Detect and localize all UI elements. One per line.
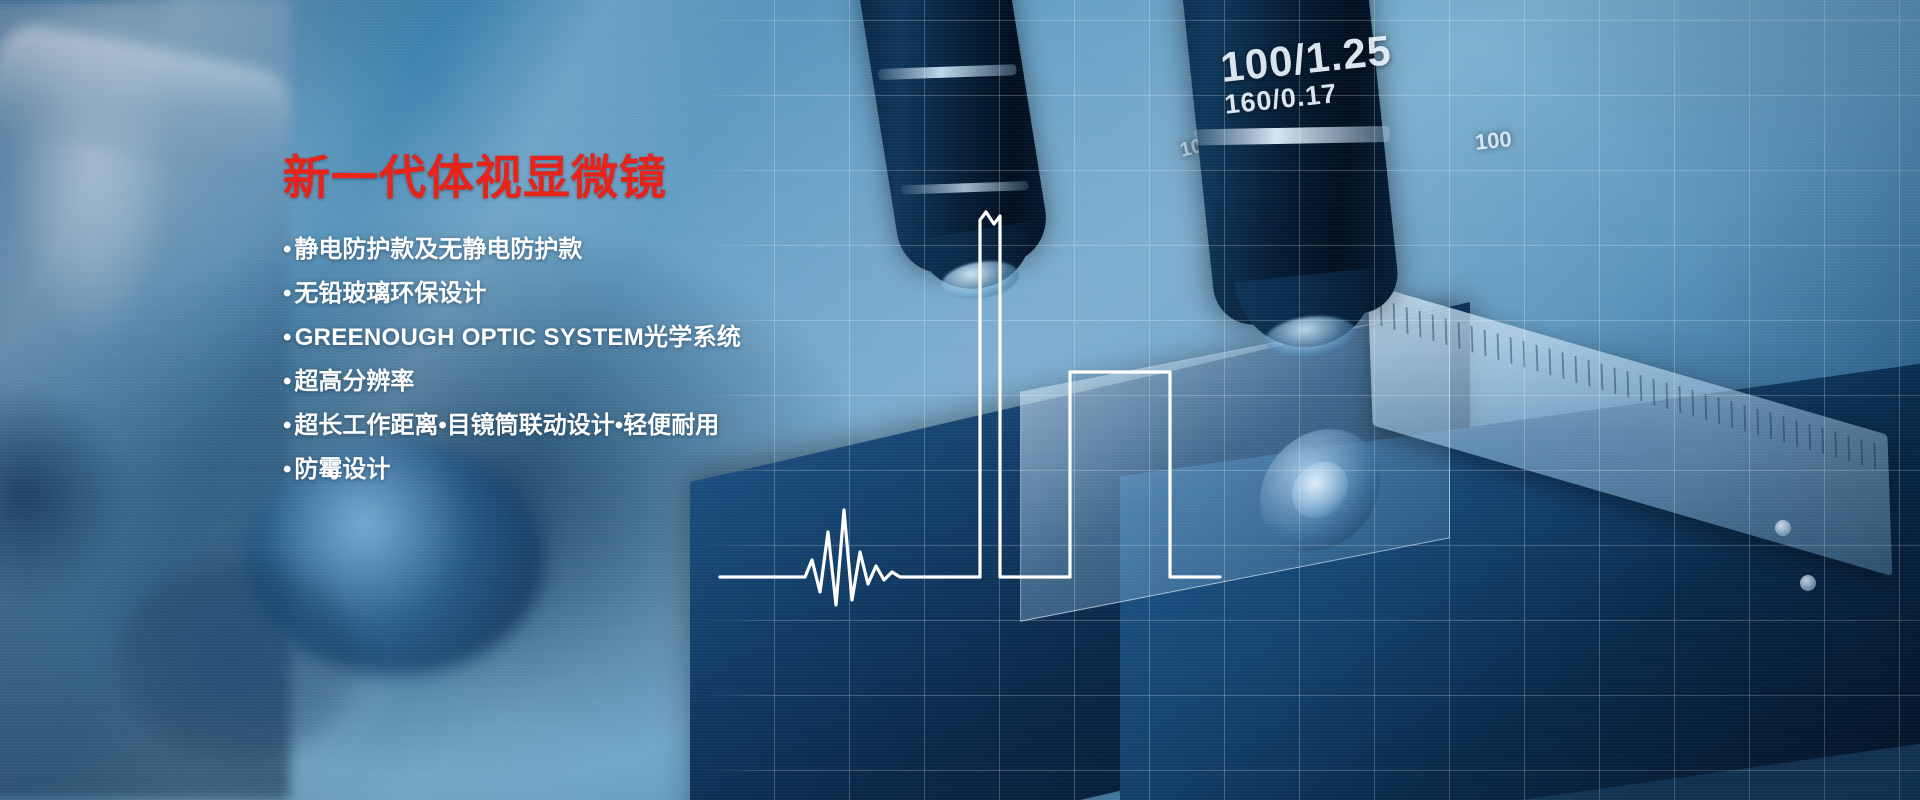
bullet-marker-icon: • bbox=[283, 458, 291, 482]
feature-list: • 静电防护款及无静电防护款 • 无铅玻璃环保设计 • GREENOUGH OP… bbox=[283, 238, 903, 482]
feature-item-2-label: 无铅玻璃环保设计 bbox=[294, 282, 486, 306]
promo-banner: 40 100 100/1.25 160/0.17 100 新一代体视显微镜 bbox=[0, 0, 1920, 800]
feature-item-1-label: 静电防护款及无静电防护款 bbox=[294, 238, 582, 262]
bullet-marker-icon: • bbox=[283, 370, 291, 394]
feature-item-6: • 防霉设计 bbox=[283, 458, 903, 482]
bullet-marker-icon: • bbox=[283, 326, 292, 350]
page-title: 新一代体视显微镜 bbox=[283, 152, 903, 204]
feature-item-4-label: 超高分辨率 bbox=[294, 370, 414, 394]
copy-block: 新一代体视显微镜 • 静电防护款及无静电防护款 • 无铅玻璃环保设计 • GRE… bbox=[283, 152, 903, 502]
bullet-marker-icon: • bbox=[283, 282, 291, 306]
bullet-marker-icon: • bbox=[283, 238, 291, 262]
feature-item-2: • 无铅玻璃环保设计 bbox=[283, 282, 903, 306]
feature-item-5-label: 超长工作距离•目镜筒联动设计•轻便耐用 bbox=[294, 414, 719, 438]
feature-item-1: • 静电防护款及无静电防护款 bbox=[283, 238, 903, 262]
feature-item-5: • 超长工作距离•目镜筒联动设计•轻便耐用 bbox=[283, 414, 903, 438]
feature-item-3: • GREENOUGH OPTIC SYSTEM光学系统 bbox=[283, 326, 903, 350]
feature-item-6-label: 防霉设计 bbox=[294, 458, 390, 482]
feature-item-3-label: GREENOUGH OPTIC SYSTEM光学系统 bbox=[295, 326, 742, 350]
bullet-marker-icon: • bbox=[283, 414, 291, 438]
feature-item-4: • 超高分辨率 bbox=[283, 370, 903, 394]
